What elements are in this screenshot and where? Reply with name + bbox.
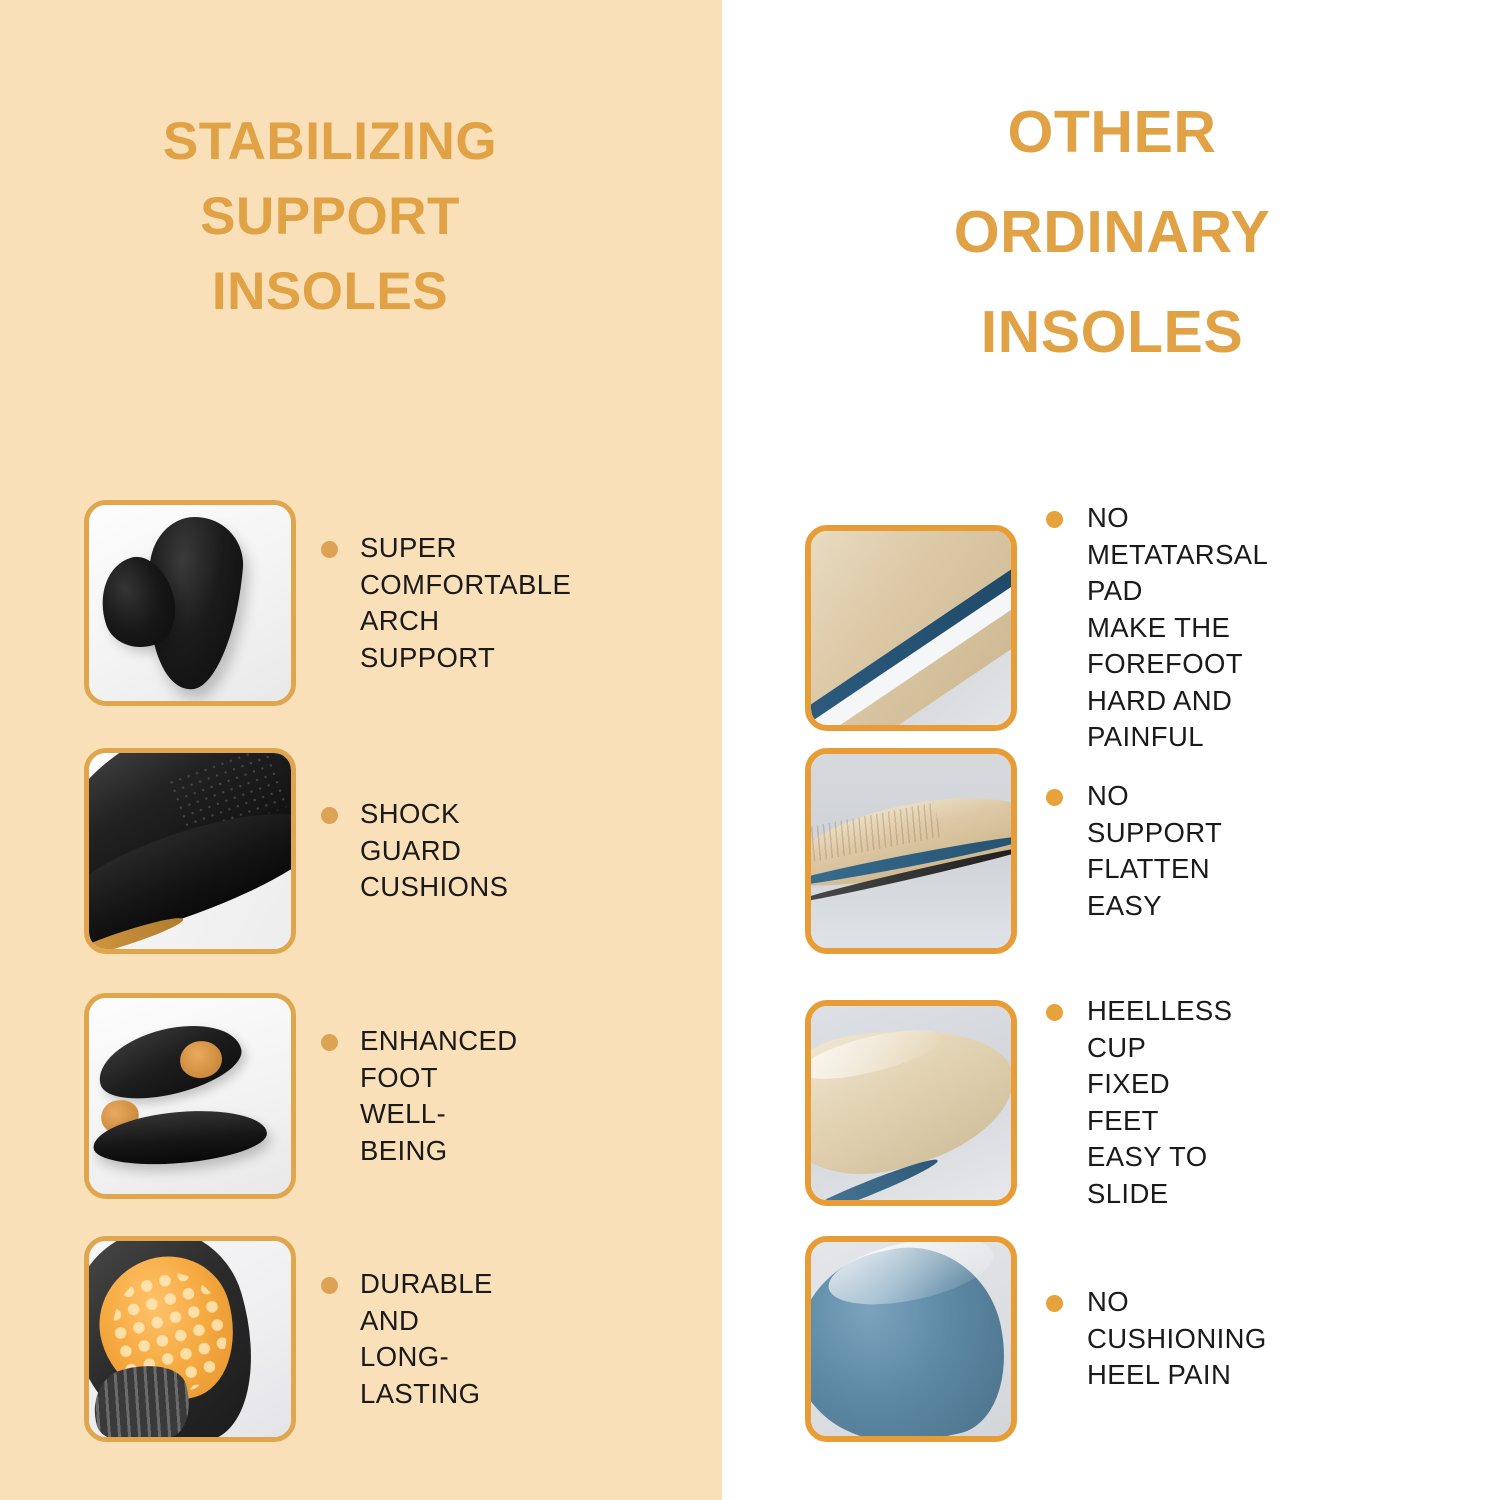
feature-label: DURABLE AND LONG-LASTING <box>360 1266 493 1412</box>
drawback-text-group: NO CUSHIONING HEEL PAIN <box>1046 1284 1267 1394</box>
drawback-label: HEELLESS CUP FIXED FEET EASY TO SLIDE <box>1087 993 1232 1212</box>
feature-label: SUPER COMFORTABLE ARCH SUPPORT <box>360 530 571 676</box>
list-item: ENHANCED FOOT WELL-BEING <box>84 993 518 1199</box>
feature-thumbnail-durable <box>84 1236 296 1442</box>
bullet-dot-icon <box>1046 1004 1063 1021</box>
list-item: NO METATARSAL PAD MAKE THE FOREFOOT HARD… <box>805 500 1267 756</box>
feature-label: ENHANCED FOOT WELL-BEING <box>360 1023 518 1169</box>
drawback-label: NO SUPPORT FLATTEN EASY <box>1087 778 1222 924</box>
drawback-thumbnail-no-cushioning <box>805 1236 1017 1442</box>
drawback-text-group: NO SUPPORT FLATTEN EASY <box>1046 778 1222 924</box>
orange-honeycomb-heel-pad-image <box>89 1241 291 1437</box>
right-panel-ordinary-insoles: OTHER ORDINARY INSOLES NO METATARSAL PAD… <box>722 0 1500 1500</box>
beige-insole-rounded-end-image <box>811 1006 1011 1200</box>
black-arch-support-insole-image <box>89 505 291 701</box>
beige-insole-blue-edge-image <box>811 531 1011 725</box>
bullet-dot-icon <box>321 541 338 558</box>
left-panel-title: STABILIZING SUPPORT INSOLES <box>0 104 660 329</box>
drawback-text-group: NO METATARSAL PAD MAKE THE FOREFOOT HARD… <box>1046 500 1267 756</box>
comparison-infographic: STABILIZING SUPPORT INSOLES SUPER COMFOR… <box>0 0 1500 1500</box>
bullet-dot-icon <box>1046 789 1063 806</box>
flat-beige-insole-profile-image <box>811 754 1011 948</box>
feature-text-group: SHOCK GUARD CUSHIONS <box>321 796 508 906</box>
bullet-dot-icon <box>321 807 338 824</box>
bullet-dot-icon <box>1046 511 1063 528</box>
feature-text-group: DURABLE AND LONG-LASTING <box>321 1266 493 1412</box>
feature-thumbnail-arch-support <box>84 500 296 706</box>
list-item: HEELLESS CUP FIXED FEET EASY TO SLIDE <box>805 993 1232 1212</box>
list-item: DURABLE AND LONG-LASTING <box>84 1236 493 1442</box>
drawback-text-group: HEELLESS CUP FIXED FEET EASY TO SLIDE <box>1046 993 1232 1212</box>
drawback-thumbnail-heelless-cup <box>805 1000 1017 1206</box>
drawback-thumbnail-no-support <box>805 748 1017 954</box>
feature-thumbnail-foot-wellbeing <box>84 993 296 1199</box>
pair-of-black-insoles-image <box>89 998 291 1194</box>
list-item: SUPER COMFORTABLE ARCH SUPPORT <box>84 500 571 706</box>
list-item: NO CUSHIONING HEEL PAIN <box>805 1236 1267 1442</box>
drawback-thumbnail-no-metatarsal-pad <box>805 525 1017 731</box>
feature-text-group: ENHANCED FOOT WELL-BEING <box>321 1023 518 1169</box>
bullet-dot-icon <box>321 1277 338 1294</box>
feature-text-group: SUPER COMFORTABLE ARCH SUPPORT <box>321 530 571 676</box>
feature-thumbnail-shock-guard <box>84 748 296 954</box>
list-item: NO SUPPORT FLATTEN EASY <box>805 748 1222 954</box>
bullet-dot-icon <box>321 1034 338 1051</box>
drawback-label: NO METATARSAL PAD MAKE THE FOREFOOT HARD… <box>1087 500 1267 756</box>
black-insole-edge-image <box>89 753 291 949</box>
list-item: SHOCK GUARD CUSHIONS <box>84 748 508 954</box>
drawback-label: NO CUSHIONING HEEL PAIN <box>1087 1284 1267 1394</box>
feature-label: SHOCK GUARD CUSHIONS <box>360 796 508 906</box>
blue-gray-insole-heel-image <box>811 1242 1011 1436</box>
right-panel-title: OTHER ORDINARY INSOLES <box>782 82 1442 382</box>
left-panel-stabilizing-insoles: STABILIZING SUPPORT INSOLES SUPER COMFOR… <box>0 0 722 1500</box>
bullet-dot-icon <box>1046 1295 1063 1312</box>
